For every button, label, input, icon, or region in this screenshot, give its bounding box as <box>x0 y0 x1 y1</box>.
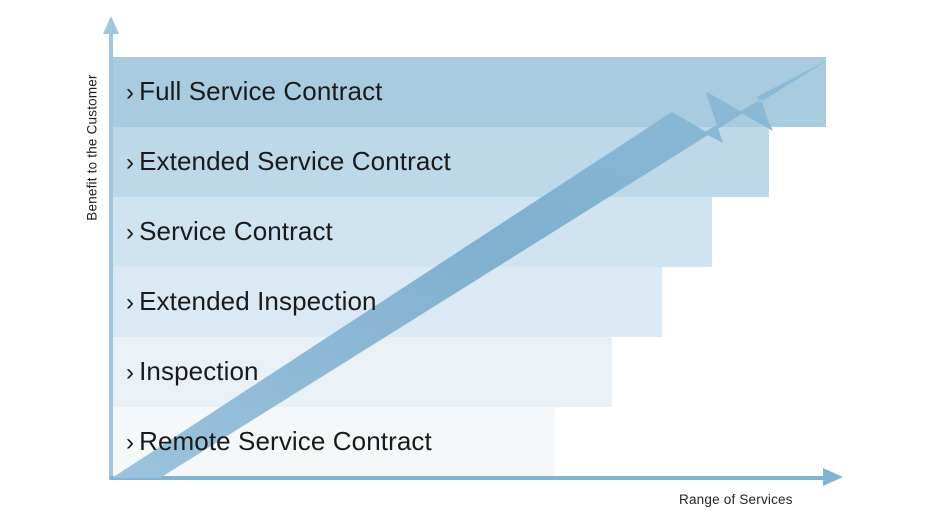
chevron-right-icon: › <box>126 219 134 247</box>
tier-label-text: Extended Service Contract <box>139 146 451 176</box>
arrow-right-icon <box>823 468 843 486</box>
diagram-canvas: ›Full Service Contract›Extended Service … <box>0 0 933 525</box>
chevron-right-icon: › <box>126 289 134 317</box>
y-axis-line <box>109 30 113 480</box>
chevron-right-icon: › <box>126 79 134 107</box>
tier-band[interactable]: ›Remote Service Contract <box>112 407 555 477</box>
tier-label: ›Extended Inspection <box>126 286 377 317</box>
tier-label-text: Service Contract <box>139 216 333 246</box>
tier-label-text: Remote Service Contract <box>139 426 432 456</box>
tier-band[interactable]: ›Extended Inspection <box>112 267 662 337</box>
tier-label: ›Inspection <box>126 356 259 387</box>
tier-label: ›Service Contract <box>126 216 333 247</box>
tier-label: ›Extended Service Contract <box>126 146 451 177</box>
chevron-right-icon: › <box>126 359 134 387</box>
tier-label-text: Inspection <box>139 356 259 386</box>
tier-band[interactable]: ›Extended Service Contract <box>112 127 769 197</box>
chevron-right-icon: › <box>126 429 134 457</box>
x-axis-label: Range of Services <box>679 492 793 507</box>
x-axis-line <box>110 476 826 480</box>
arrow-up-icon <box>103 16 119 34</box>
tier-band[interactable]: ›Inspection <box>112 337 612 407</box>
tier-label-text: Full Service Contract <box>139 76 382 106</box>
tier-band[interactable]: ›Service Contract <box>112 197 712 267</box>
tier-label: ›Remote Service Contract <box>126 426 432 457</box>
tier-label-text: Extended Inspection <box>139 286 377 316</box>
tier-band-group: ›Full Service Contract›Extended Service … <box>112 57 826 477</box>
chevron-right-icon: › <box>126 149 134 177</box>
y-axis-label: Benefit to the Customer <box>85 38 100 258</box>
tier-band[interactable]: ›Full Service Contract <box>112 57 826 127</box>
tier-label: ›Full Service Contract <box>126 76 383 107</box>
